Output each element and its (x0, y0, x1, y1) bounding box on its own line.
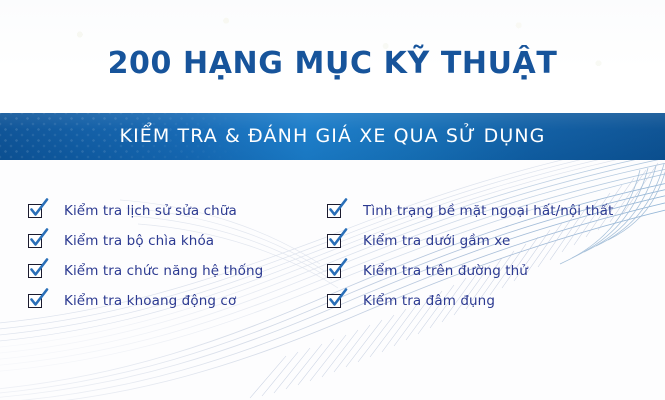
checklist-item[interactable]: Kiểm tra trên đường thử (327, 256, 613, 286)
checklist-item[interactable]: Tình trạng bề mặt ngoại hất/nội thất (327, 196, 613, 226)
infographic-page: 200 HẠNG MỤC KỸ THUẬT KIỂM TRA & ĐÁNH GI… (0, 0, 665, 400)
checkbox-checked-icon[interactable] (327, 294, 341, 308)
checklist-column-left: Kiểm tra lịch sử sửa chữa Kiểm tra bộ ch… (28, 196, 263, 316)
check-mark-icon (326, 227, 350, 251)
checkbox-checked-icon[interactable] (327, 234, 341, 248)
checklist-item-label: Kiểm tra trên đường thử (363, 263, 528, 279)
checkbox-checked-icon[interactable] (28, 204, 42, 218)
checklist-item-label: Kiểm tra dưới gầm xe (363, 233, 510, 249)
subtitle-banner-text: KIỂM TRA & ĐÁNH GIÁ XE QUA SỬ DỤNG (0, 113, 665, 160)
checklist-item-label: Kiểm tra bộ chìa khóa (64, 233, 214, 249)
check-mark-icon (27, 287, 51, 311)
checkbox-checked-icon[interactable] (327, 204, 341, 218)
checkbox-checked-icon[interactable] (28, 234, 42, 248)
check-mark-icon (27, 227, 51, 251)
checklist-item[interactable]: Kiểm tra đâm đụng (327, 286, 613, 316)
checkbox-checked-icon[interactable] (28, 264, 42, 278)
checklist-item[interactable]: Kiểm tra dưới gầm xe (327, 226, 613, 256)
checkbox-checked-icon[interactable] (327, 264, 341, 278)
check-mark-icon (326, 197, 350, 221)
check-mark-icon (27, 197, 51, 221)
checklist-item[interactable]: Kiểm tra khoang động cơ (28, 286, 263, 316)
checkbox-checked-icon[interactable] (28, 294, 42, 308)
check-mark-icon (326, 287, 350, 311)
checklist-item-label: Kiểm tra khoang động cơ (64, 293, 236, 309)
check-mark-icon (27, 257, 51, 281)
checklist-column-right: Tình trạng bề mặt ngoại hất/nội thất Kiể… (327, 196, 613, 316)
checklist-item[interactable]: Kiểm tra bộ chìa khóa (28, 226, 263, 256)
checklist-item-label: Kiểm tra lịch sử sửa chữa (64, 203, 237, 219)
checklist-item-label: Kiểm tra đâm đụng (363, 293, 495, 309)
checklist-item-label: Tình trạng bề mặt ngoại hất/nội thất (363, 203, 613, 219)
subtitle-banner: KIỂM TRA & ĐÁNH GIÁ XE QUA SỬ DỤNG (0, 113, 665, 160)
checklist: Kiểm tra lịch sử sửa chữa Kiểm tra bộ ch… (0, 196, 665, 326)
page-title-wrapper: 200 HẠNG MỤC KỸ THUẬT (0, 44, 665, 84)
check-mark-icon (326, 257, 350, 281)
checklist-item-label: Kiểm tra chức năng hệ thống (64, 263, 263, 279)
page-title: 200 HẠNG MỤC KỸ THUẬT (0, 44, 665, 84)
checklist-item[interactable]: Kiểm tra chức năng hệ thống (28, 256, 263, 286)
checklist-item[interactable]: Kiểm tra lịch sử sửa chữa (28, 196, 263, 226)
